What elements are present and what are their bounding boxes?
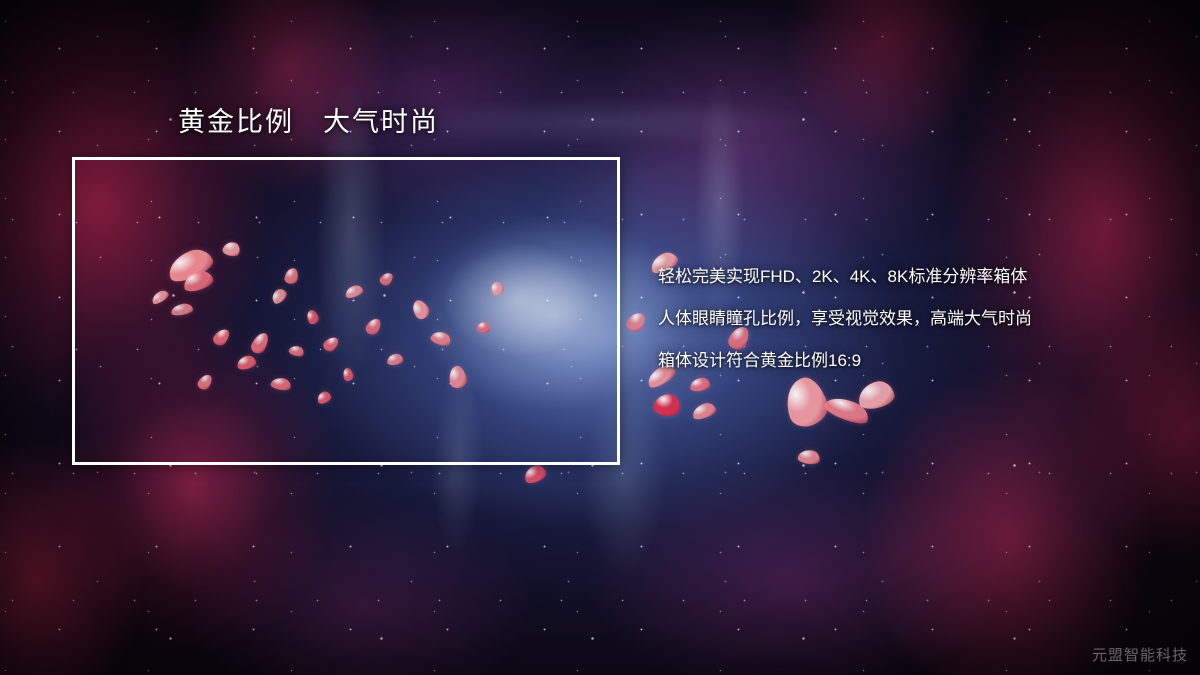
brand-watermark: 元盟智能科技 bbox=[1092, 644, 1188, 665]
petal-sprite bbox=[797, 448, 821, 466]
petal-sprite bbox=[522, 463, 548, 486]
description-line: 轻松完美实现FHD、2K、4K、8K标准分辨率箱体 bbox=[658, 256, 1178, 298]
petal-sprite bbox=[690, 401, 717, 422]
slide-canvas: 黄金比例 大气时尚 轻松完美实现FHD、2K、4K、8K标准分辨率箱体 人体眼睛… bbox=[0, 0, 1200, 675]
petal-sprite bbox=[822, 392, 872, 428]
petal-sprite bbox=[856, 379, 897, 412]
page-title: 黄金比例 大气时尚 bbox=[178, 100, 439, 139]
feature-description-block: 轻松完美实现FHD、2K、4K、8K标准分辨率箱体 人体眼睛瞳孔比例，享受视觉效… bbox=[658, 256, 1178, 382]
panel-starfield-large bbox=[72, 157, 620, 465]
framed-preview-panel bbox=[72, 157, 620, 465]
description-line: 箱体设计符合黄金比例16:9 bbox=[658, 340, 1178, 382]
petal-sprite bbox=[624, 309, 648, 334]
petal-sprite bbox=[652, 392, 682, 419]
description-line: 人体眼睛瞳孔比例，享受视觉效果，高端大气时尚 bbox=[658, 298, 1178, 340]
